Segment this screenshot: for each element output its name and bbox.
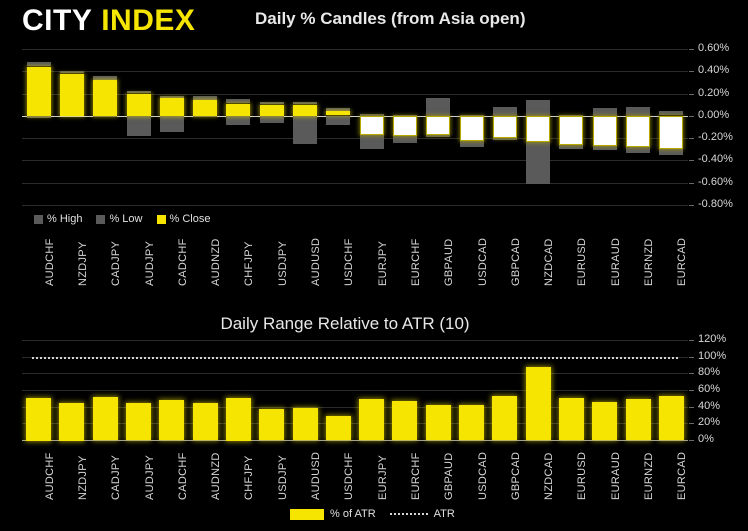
- candles-x-label: EURCAD: [676, 238, 688, 286]
- page-header: CITY INDEX Daily % Candles (from Asia op…: [0, 0, 748, 42]
- candle-body-down: [426, 116, 450, 135]
- candles-y-tick-label: -0.80%: [698, 198, 733, 210]
- candles-x-label: EURCHF: [410, 238, 422, 286]
- candle-low-wick: [260, 116, 284, 123]
- candle-high-wick: [426, 98, 450, 116]
- candles-y-tick-label: 0.60%: [698, 42, 729, 54]
- legend-label: % Low: [109, 213, 142, 225]
- atr-bar: [659, 396, 684, 440]
- atr-y-tick-label: 60%: [698, 383, 720, 395]
- candles-x-label: USDJPY: [277, 241, 289, 286]
- atr-y-tick-mark: [689, 373, 694, 374]
- candle-low-wick: [193, 116, 217, 117]
- candle-body-down: [360, 116, 384, 135]
- atr-x-label: USDJPY: [277, 455, 289, 500]
- atr-legend: % of ATRATR: [290, 508, 469, 520]
- atr-baseline-axis: [22, 440, 688, 441]
- candle-body-up: [60, 74, 84, 116]
- candles-gridline: [22, 71, 688, 72]
- atr-bar: [526, 367, 551, 440]
- atr-x-label: EURCAD: [676, 452, 688, 500]
- candles-y-tick-label: 0.40%: [698, 64, 729, 76]
- candle-body-up: [226, 104, 250, 116]
- logo-word-index: INDEX: [101, 4, 195, 37]
- candle-low-wick: [460, 140, 484, 147]
- atr-bar: [226, 398, 251, 441]
- legend-label: % Close: [170, 213, 211, 225]
- candle-body-up: [27, 67, 51, 116]
- candles-x-label: EURAUD: [610, 238, 622, 286]
- atr-bar: [626, 399, 651, 440]
- candle-body-up: [93, 80, 117, 116]
- atr-bar: [392, 401, 417, 440]
- candles-gridline: [22, 138, 688, 139]
- atr-x-label: GBPCAD: [510, 452, 522, 500]
- candles-x-label: AUDJPY: [144, 241, 156, 286]
- candles-gridline: [22, 205, 688, 206]
- atr-y-tick-label: 120%: [698, 333, 726, 345]
- atr-bar: [159, 400, 184, 440]
- atr-bar: [459, 405, 484, 440]
- atr-x-label: USDCHF: [343, 452, 355, 500]
- candles-y-tick-mark: [689, 205, 694, 206]
- atr-bar: [126, 403, 151, 440]
- atr-bar: [592, 402, 617, 440]
- legend-swatch-icon: [96, 215, 105, 224]
- candles-y-tick-label: -0.60%: [698, 176, 733, 188]
- candles-x-label: CHFJPY: [243, 241, 255, 286]
- candle-high-wick: [27, 62, 51, 66]
- candle-body-down: [526, 116, 550, 142]
- atr-x-label: USDCAD: [477, 452, 489, 500]
- candles-gridline: [22, 160, 688, 161]
- atr-gridline: [22, 340, 688, 341]
- legend-dotted-line-icon: [390, 513, 428, 515]
- candle-high-wick: [127, 91, 151, 93]
- candles-x-label: GBPCAD: [510, 238, 522, 286]
- atr-y-tick-label: 20%: [698, 416, 720, 428]
- atr-y-tick-label: 0%: [698, 433, 714, 445]
- atr-bar: [492, 396, 517, 440]
- atr-bar: [326, 416, 351, 440]
- atr-gridline: [22, 423, 688, 424]
- atr-x-label: GBPAUD: [443, 453, 455, 500]
- chart-page: CITY INDEX Daily % Candles (from Asia op…: [0, 0, 748, 531]
- atr-x-label: EURNZD: [643, 452, 655, 500]
- city-index-logo: CITY INDEX: [22, 4, 195, 38]
- candles-x-label: CADJPY: [110, 241, 122, 286]
- candle-high-wick: [593, 108, 617, 116]
- candle-low-wick: [93, 116, 117, 117]
- atr-bar: [26, 398, 51, 441]
- legend-bar-swatch-icon: [290, 509, 324, 520]
- candle-low-wick: [226, 116, 250, 125]
- atr-y-tick-mark: [689, 440, 694, 441]
- chart1-title: Daily % Candles (from Asia open): [255, 9, 525, 29]
- candle-low-wick: [626, 147, 650, 153]
- atr-x-label: NZDCAD: [543, 452, 555, 500]
- candles-y-tick-mark: [689, 94, 694, 95]
- candle-body-down: [493, 116, 517, 138]
- candle-high-wick: [260, 102, 284, 104]
- atr-bar: [559, 398, 584, 440]
- candles-x-label: GBPAUD: [443, 239, 455, 286]
- candles-gridline: [22, 183, 688, 184]
- candles-y-tick-mark: [689, 116, 694, 117]
- candle-low-wick: [326, 116, 350, 125]
- candle-low-wick: [559, 145, 583, 149]
- atr-y-tick-mark: [689, 340, 694, 341]
- candles-zero-line: [22, 116, 688, 117]
- legend-label: % of ATR: [330, 508, 376, 520]
- atr-bar: [426, 405, 451, 440]
- legend-swatch-icon: [157, 215, 166, 224]
- candles-y-tick-label: -0.40%: [698, 153, 733, 165]
- candles-gridline: [22, 49, 688, 50]
- candle-body-up: [326, 111, 350, 115]
- candle-body-down: [659, 116, 683, 149]
- atr-x-label: CHFJPY: [243, 455, 255, 500]
- atr-gridline: [22, 407, 688, 408]
- candle-body-down: [460, 116, 484, 141]
- candles-x-label: CADCHF: [177, 238, 189, 286]
- candles-x-label: EURJPY: [377, 241, 389, 286]
- legend-label: % High: [47, 213, 82, 225]
- candle-body-down: [393, 116, 417, 136]
- atr-y-tick-label: 100%: [698, 350, 726, 362]
- candle-high-wick: [626, 107, 650, 116]
- atr-x-label: NZDJPY: [77, 455, 89, 500]
- candle-high-wick: [526, 100, 550, 116]
- candle-body-up: [160, 98, 184, 116]
- candles-y-tick-mark: [689, 49, 694, 50]
- atr-bar: [359, 399, 384, 440]
- candle-low-wick: [360, 135, 384, 149]
- candles-y-tick-mark: [689, 138, 694, 139]
- candles-y-tick-label: 0.20%: [698, 87, 729, 99]
- candle-high-wick: [60, 71, 84, 73]
- logo-word-city: CITY: [22, 4, 92, 37]
- candles-x-label: USDCHF: [343, 238, 355, 286]
- atr-x-label: AUDCHF: [44, 452, 56, 500]
- candle-body-up: [293, 105, 317, 116]
- atr-y-tick-mark: [689, 407, 694, 408]
- candle-body-up: [260, 105, 284, 116]
- candle-low-wick: [493, 138, 517, 140]
- candle-body-down: [593, 116, 617, 146]
- atr-x-label: CADCHF: [177, 452, 189, 500]
- candles-y-tick-label: -0.20%: [698, 131, 733, 143]
- atr-x-label: EURAUD: [610, 452, 622, 500]
- atr-bar: [93, 397, 118, 440]
- candle-low-wick: [426, 135, 450, 137]
- legend-item: % of ATR: [290, 508, 376, 520]
- atr-bar: [259, 409, 284, 440]
- chart2-title: Daily Range Relative to ATR (10): [0, 314, 690, 334]
- atr-x-label: AUDJPY: [144, 455, 156, 500]
- atr-bar: [59, 403, 84, 441]
- atr-x-label: EURUSD: [576, 452, 588, 500]
- candle-body-up: [127, 94, 151, 116]
- atr-y-tick-mark: [689, 423, 694, 424]
- atr-y-tick-label: 40%: [698, 400, 720, 412]
- candles-gridline: [22, 94, 688, 95]
- candles-x-label: EURNZD: [643, 238, 655, 286]
- atr-bar: [293, 408, 318, 440]
- atr-gridline: [22, 373, 688, 374]
- candle-high-wick: [293, 102, 317, 104]
- candle-low-wick: [659, 149, 683, 155]
- atr-x-label: EURCHF: [410, 452, 422, 500]
- candles-legend: % High% Low% Close: [34, 213, 224, 225]
- atr-x-label: AUDNZD: [210, 452, 222, 500]
- legend-item: % High: [34, 213, 82, 225]
- candle-low-wick: [160, 116, 184, 132]
- candle-body-down: [626, 116, 650, 147]
- candle-high-wick: [493, 107, 517, 116]
- atr-x-label: EURJPY: [377, 455, 389, 500]
- legend-item: % Low: [96, 213, 142, 225]
- candle-low-wick: [393, 136, 417, 143]
- candles-x-label: AUDCHF: [44, 238, 56, 286]
- candles-plot-area: [22, 49, 688, 205]
- candle-low-wick: [127, 116, 151, 136]
- candles-y-tick-label: 0.00%: [698, 109, 729, 121]
- atr-y-tick-mark: [689, 357, 694, 358]
- candles-y-tick-mark: [689, 71, 694, 72]
- candles-x-label: NZDJPY: [77, 241, 89, 286]
- candles-x-label: USDCAD: [477, 238, 489, 286]
- candles-y-tick-mark: [689, 160, 694, 161]
- atr-bar: [193, 403, 218, 440]
- candle-high-wick: [226, 99, 250, 103]
- candles-x-label: EURUSD: [576, 238, 588, 286]
- atr-gridline: [22, 390, 688, 391]
- candle-low-wick: [593, 146, 617, 150]
- candle-low-wick: [526, 141, 550, 184]
- legend-swatch-icon: [34, 215, 43, 224]
- candles-x-label: NZDCAD: [543, 238, 555, 286]
- candle-body-up: [193, 100, 217, 116]
- candle-low-wick: [293, 116, 317, 144]
- atr-x-label: CADJPY: [110, 455, 122, 500]
- candle-low-wick: [27, 116, 51, 118]
- legend-item: ATR: [390, 508, 455, 520]
- atr-y-tick-mark: [689, 390, 694, 391]
- candle-body-down: [559, 116, 583, 145]
- atr-y-tick-label: 80%: [698, 366, 720, 378]
- legend-item: % Close: [157, 213, 211, 225]
- candles-x-label: AUDUSD: [310, 238, 322, 286]
- candles-x-label: AUDNZD: [210, 238, 222, 286]
- atr-x-label: AUDUSD: [310, 452, 322, 500]
- atr-reference-line: [32, 357, 678, 359]
- candle-high-wick: [659, 111, 683, 115]
- legend-label: ATR: [434, 508, 455, 520]
- candles-y-tick-mark: [689, 183, 694, 184]
